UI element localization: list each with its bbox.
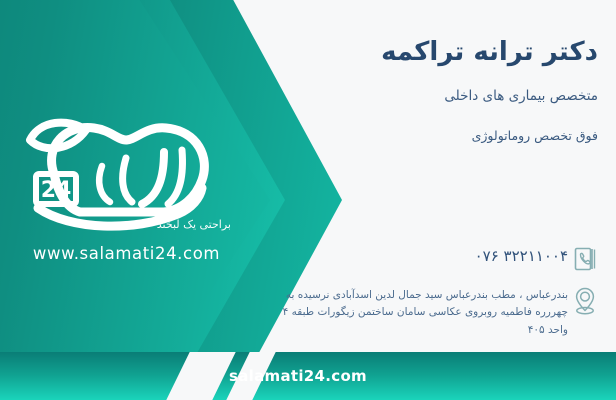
logo-website-url: www.salamati24.com xyxy=(14,244,239,263)
doctor-name: دکتر ترانه تراکمه xyxy=(268,36,598,69)
svg-text:24: 24 xyxy=(41,178,72,203)
phone-number[interactable]: ۳۲۲۱۱۰۰۴ ۰۷۶ xyxy=(246,245,568,268)
business-card: 24 براحتی یک لبخند www.salamati24.com دک… xyxy=(0,0,616,400)
contact-row-address[interactable]: بندرعباس ، مطب بندرعباس سید جمال لدین اس… xyxy=(242,284,602,339)
address-line-1: بندرعباس ، مطب بندرعباس سید جمال لدین اس… xyxy=(246,287,568,304)
phone-book-icon xyxy=(568,242,602,276)
doctor-info: دکتر ترانه تراکمه متخصص بیماری های داخلی… xyxy=(268,36,598,145)
map-pin-icon xyxy=(568,284,602,318)
brand-logo: 24 براحتی یک لبخند www.salamati24.com xyxy=(14,96,239,276)
address-line-2: چهررره فاطمیه روبروی عکاسی سامان ساختمن … xyxy=(246,304,568,321)
doctor-specialty: متخصص بیماری های داخلی xyxy=(268,87,598,106)
footer-website[interactable]: salamati24.com xyxy=(0,367,616,385)
doctor-subspecialty: فوق تخصص روماتولوژی xyxy=(268,127,598,145)
address-line-3: واحد ۴۰۵ xyxy=(246,322,568,339)
contact-row-phone[interactable]: ۳۲۲۱۱۰۰۴ ۰۷۶ xyxy=(242,242,602,276)
logo-tagline: براحتی یک لبخند xyxy=(157,218,231,231)
contact-details: ۳۲۲۱۱۰۰۴ ۰۷۶ بندرعباس ، مطب بندرعباس سید… xyxy=(242,242,602,347)
